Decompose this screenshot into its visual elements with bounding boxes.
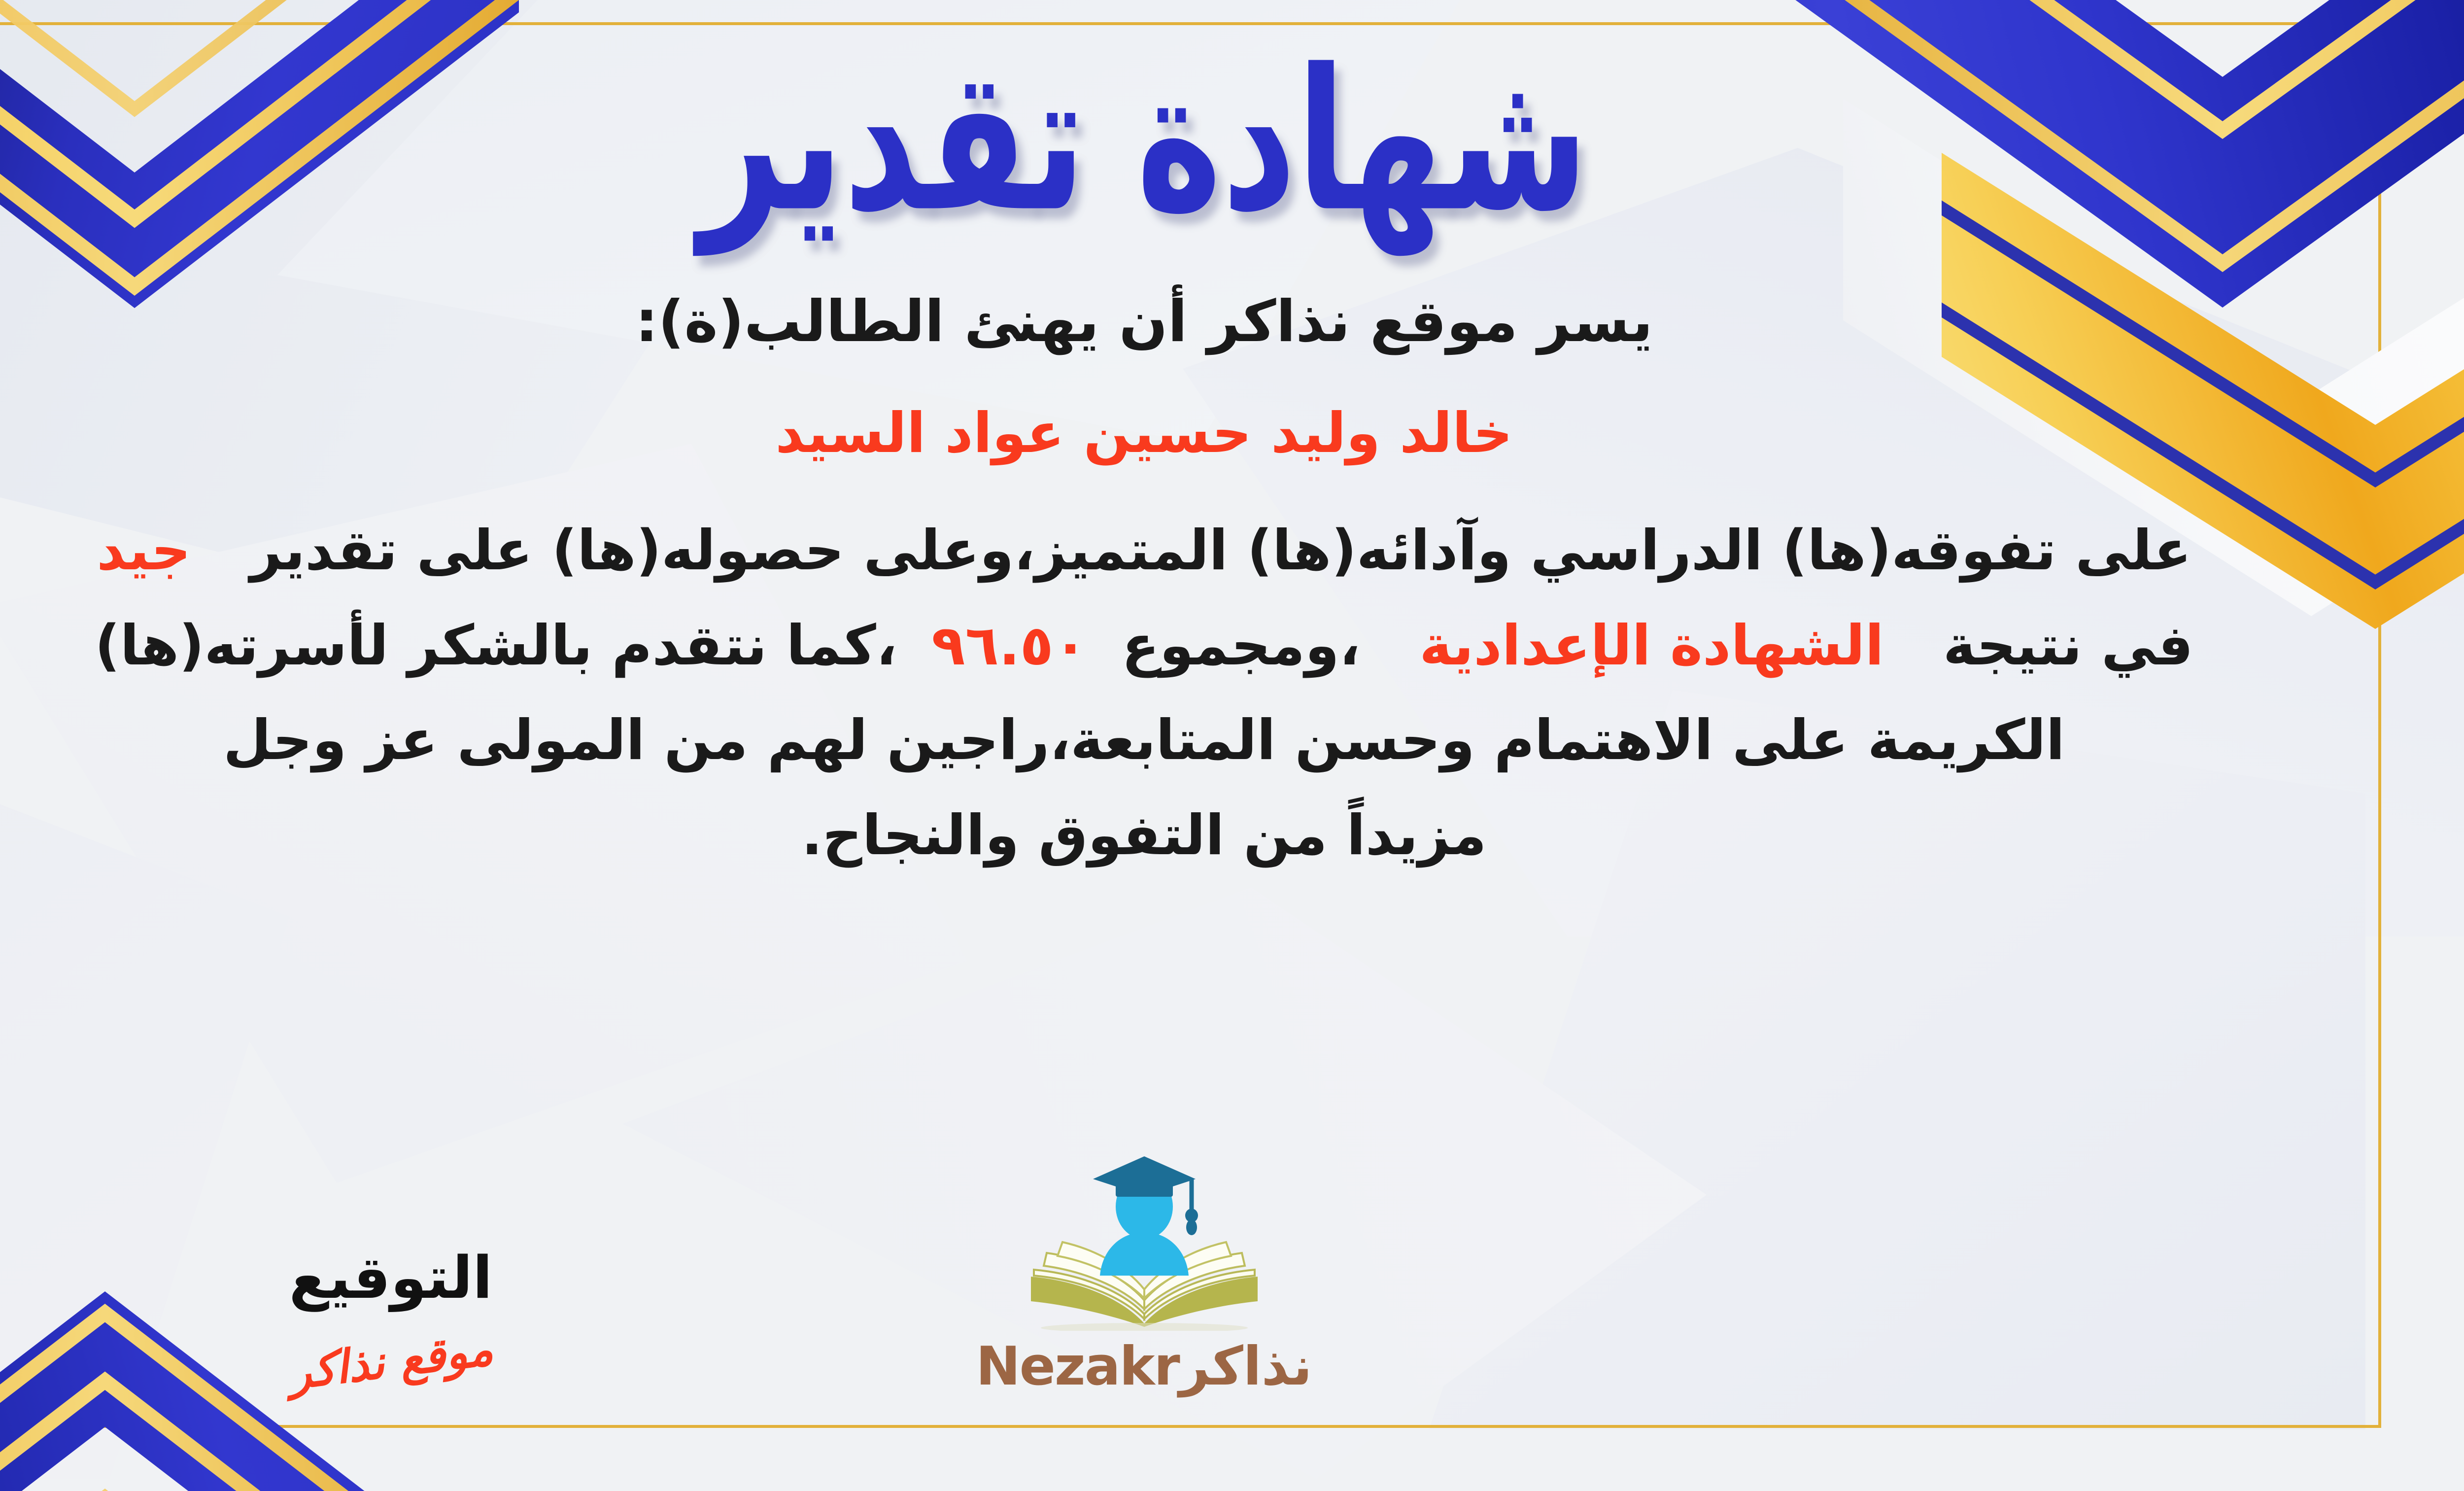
graduate-figure-icon xyxy=(1070,1148,1218,1296)
certificate-footer: التوقيع موقع نذاكر xyxy=(0,1107,2370,1402)
body-line-4: في نتيجةالشهادة الإعدادية،ومجموع٩٦.٥٠،كم… xyxy=(0,598,2370,693)
body-paragraph: على تفوقه(ها) الدراسي وآدائه(ها) المتميز… xyxy=(0,503,2370,883)
certificate-page: شهادة تقدير يسر موقع نذاكر أن يهنئ الطال… xyxy=(0,0,2464,1491)
body-line-4-mid: ،ومجموع xyxy=(1122,614,1360,678)
body-line-3: على تفوقه(ها) الدراسي وآدائه(ها) المتميز… xyxy=(0,503,2370,598)
student-name: خالد وليد حسين عواد السيد xyxy=(0,386,2370,481)
brand-wordmark: Nezakrنذاكر xyxy=(976,1336,1312,1397)
certificate-title: شهادة تقدير xyxy=(699,38,1589,243)
certificate-body: يسر موقع نذاكر أن يهنئ الطالب(ة): خالد و… xyxy=(0,273,2370,883)
brand-arabic: نذاكر xyxy=(1179,1336,1312,1397)
brand-logo: Nezakrنذاكر xyxy=(0,1148,2370,1397)
body-line-6: مزيداً من التفوق والنجاح. xyxy=(0,788,2370,883)
brand-latin: Nezakr xyxy=(976,1336,1179,1397)
greeting-line: يسر موقع نذاكر أن يهنئ الطالب(ة): xyxy=(0,273,2370,371)
body-line-4-prefix: في نتيجة xyxy=(1943,614,2193,678)
grade-value: جيد xyxy=(97,519,191,583)
body-line-5: الكريمة على الاهتمام وحسن المتابعة،راجين… xyxy=(0,693,2370,788)
total-score: ٩٦.٥٠ xyxy=(931,614,1087,678)
body-line-4-suffix: ،كما نتقدم بالشكر لأسرته(ها) xyxy=(95,614,897,678)
graduate-on-book-icon xyxy=(972,1148,1317,1341)
certificate-content: شهادة تقدير يسر موقع نذاكر أن يهنئ الطال… xyxy=(0,30,2370,1422)
exam-name: الشهادة الإعدادية xyxy=(1419,614,1884,678)
body-line-3-text: على تفوقه(ها) الدراسي وآدائه(ها) المتميز… xyxy=(250,519,2191,583)
